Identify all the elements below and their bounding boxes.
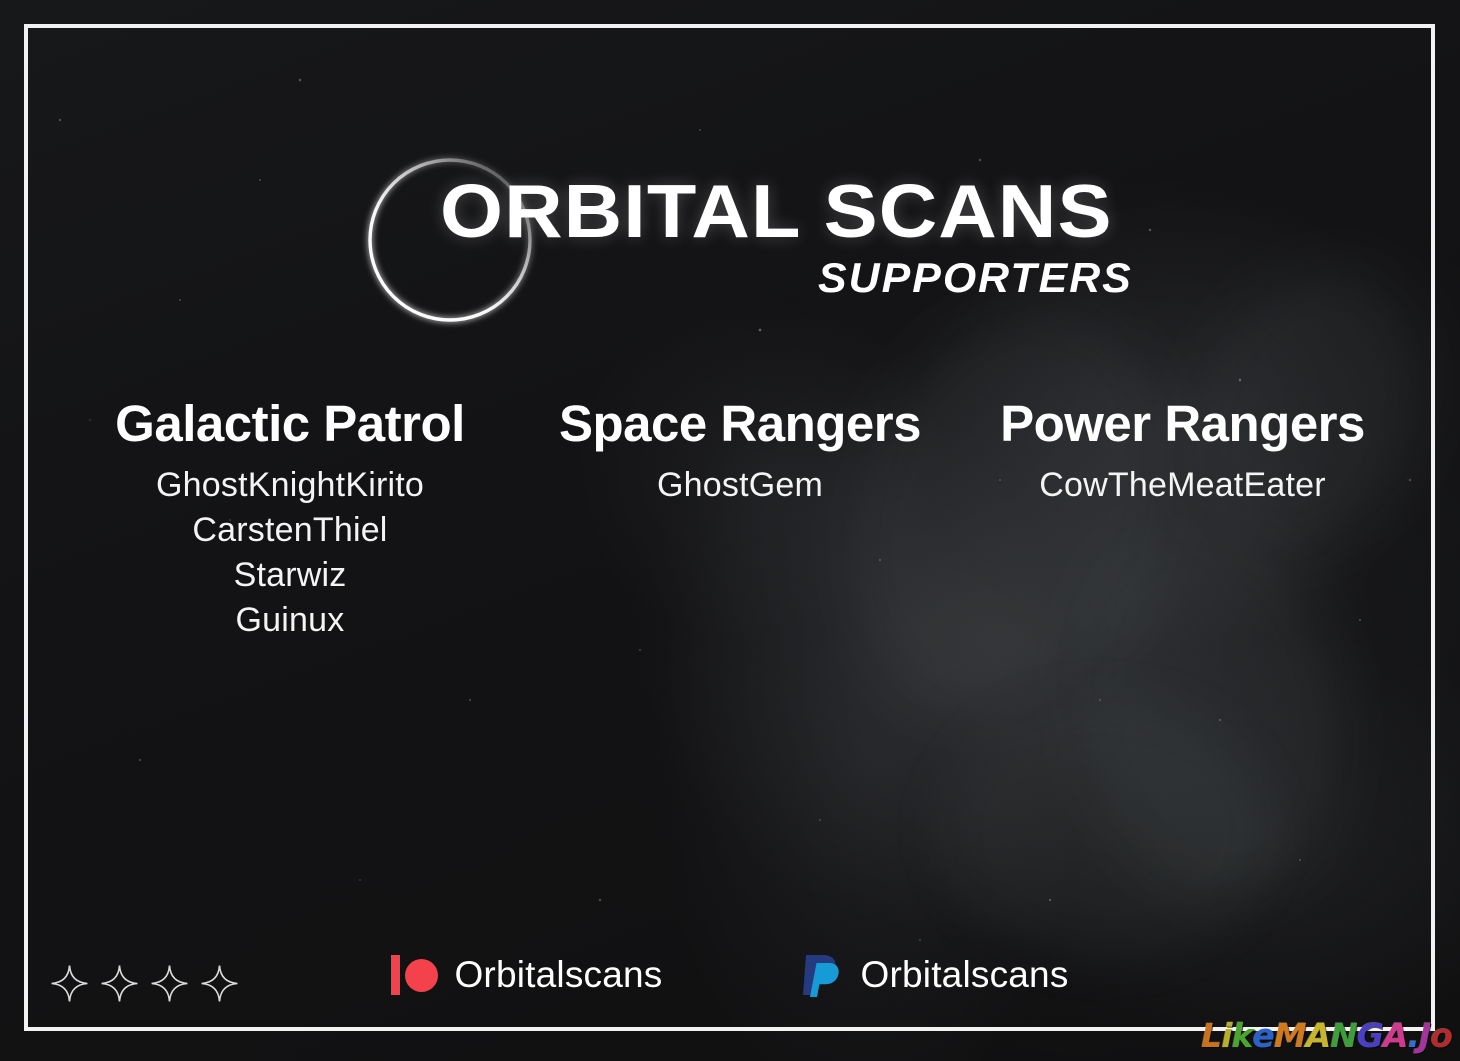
watermark-letter: . [1408, 1016, 1420, 1055]
watermark-letter: L [1201, 1016, 1221, 1055]
watermark-letter: N [1330, 1016, 1357, 1055]
watermark-letter: i [1221, 1016, 1231, 1055]
logo-title: ORBITAL SCANS [440, 168, 1113, 254]
watermark-letter: A [1306, 1016, 1331, 1055]
tier-title: Space Rangers [520, 396, 960, 451]
likemanga-watermark: LikeMANGA.Jo [1201, 1016, 1452, 1055]
watermark-letter: G [1357, 1016, 1383, 1055]
supporters-poster: ORBITAL SCANS SUPPORTERS Galactic Patrol… [0, 0, 1460, 1061]
watermark-letter: M [1274, 1016, 1306, 1055]
watermark-letter: e [1252, 1016, 1273, 1055]
watermark-letter: o [1430, 1016, 1452, 1055]
watermark-letter: A [1383, 1016, 1408, 1055]
logo-subtitle: SUPPORTERS [818, 254, 1133, 302]
logo-header: ORBITAL SCANS SUPPORTERS [0, 72, 1460, 262]
paypal-link[interactable]: Orbitalscans [801, 952, 1069, 998]
tier-column-space-rangers: Space Rangers GhostGem [520, 396, 960, 643]
list-item: Starwiz [60, 553, 520, 598]
watermark-letter: J [1419, 1016, 1430, 1055]
watermark-letter: k [1232, 1016, 1253, 1055]
patreon-circle-shape [405, 959, 438, 992]
tier-column-galactic-patrol: Galactic Patrol GhostKnightKirito Carste… [60, 396, 520, 643]
tier-member-list: GhostGem [520, 463, 960, 508]
tier-member-list: CowTheMeatEater [960, 463, 1405, 508]
list-item: GhostKnightKirito [60, 463, 520, 508]
list-item: CowTheMeatEater [960, 463, 1405, 508]
patreon-link[interactable]: Orbitalscans [391, 954, 662, 996]
paypal-link-label: Orbitalscans [861, 954, 1069, 996]
tier-member-list: GhostKnightKirito CarstenThiel Starwiz G… [60, 463, 520, 643]
tier-column-power-rangers: Power Rangers CowTheMeatEater [960, 396, 1405, 643]
list-item: CarstenThiel [60, 508, 520, 553]
supporter-tiers: Galactic Patrol GhostKnightKirito Carste… [60, 396, 1405, 643]
patreon-icon [391, 954, 438, 996]
patreon-bar-shape [391, 955, 400, 995]
list-item: GhostGem [520, 463, 960, 508]
paypal-icon [801, 952, 845, 998]
patreon-link-label: Orbitalscans [454, 954, 662, 996]
support-links: Orbitalscans Orbitalscans [0, 952, 1460, 998]
tier-title: Galactic Patrol [60, 396, 520, 451]
tier-title: Power Rangers [960, 396, 1405, 451]
list-item: Guinux [60, 598, 520, 643]
